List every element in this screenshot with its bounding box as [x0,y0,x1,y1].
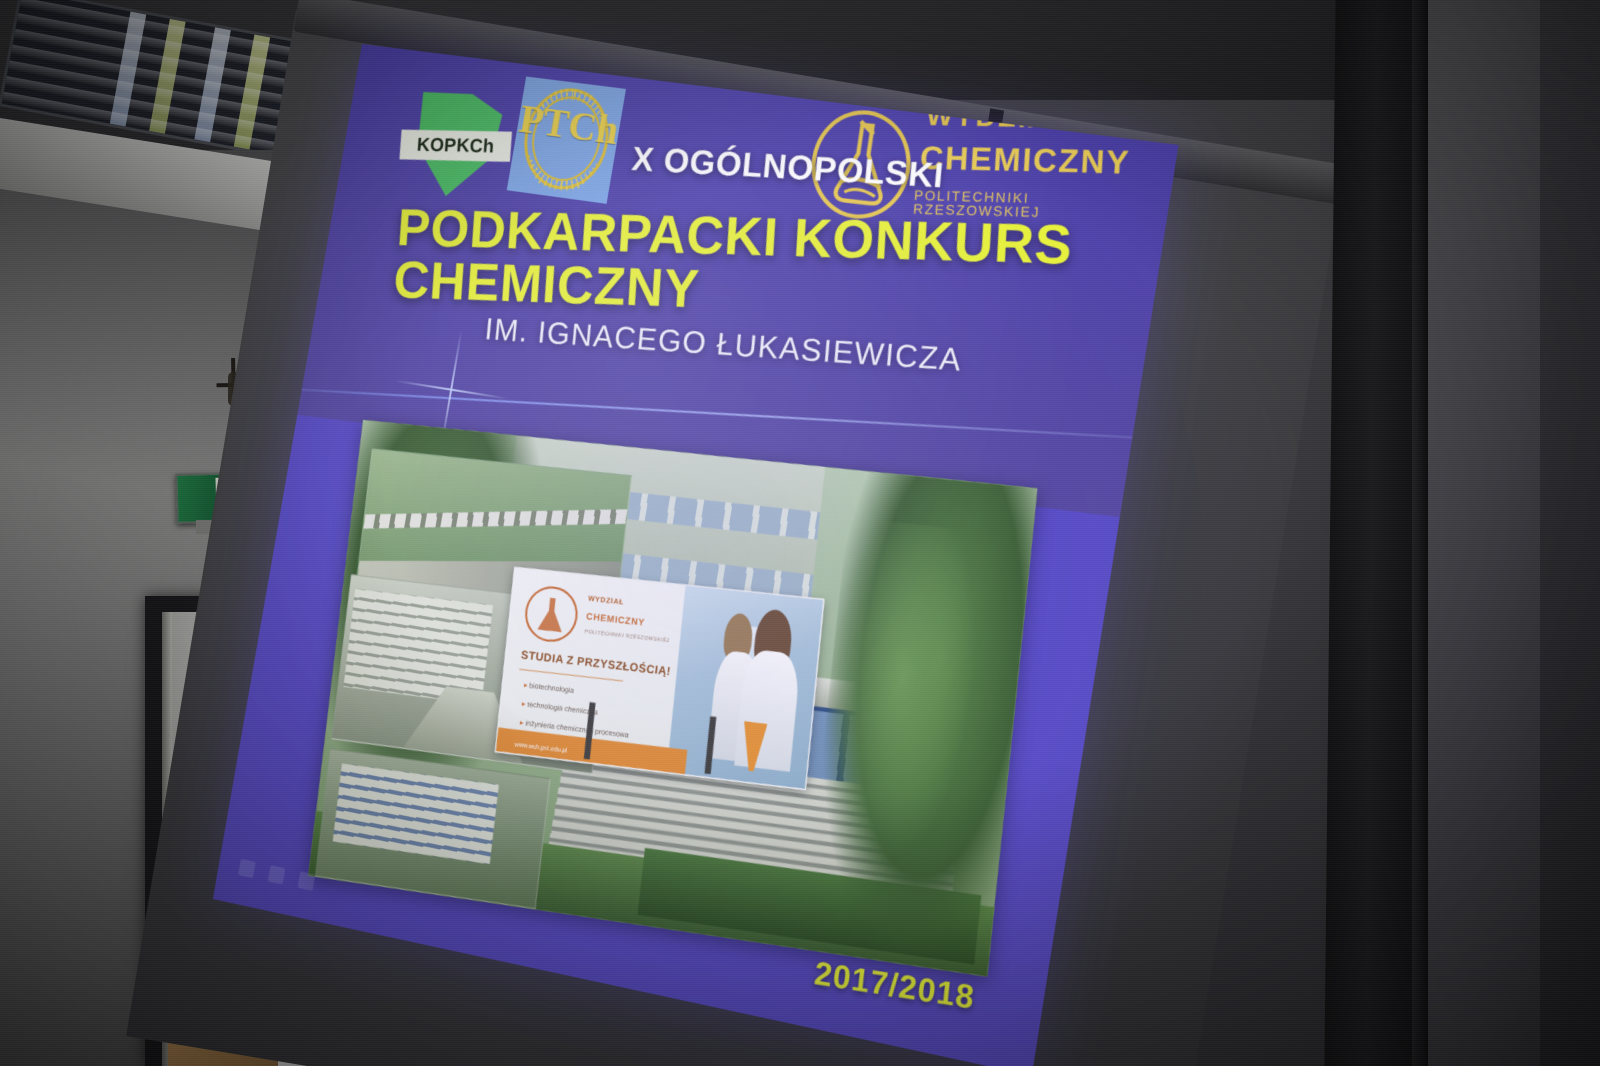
projected-slide-photo-scene: KOPKCh PTCh WYDZIAŁ [0,0,1600,1066]
wall-right-far [1540,0,1600,1066]
screen-hook [986,108,1004,136]
